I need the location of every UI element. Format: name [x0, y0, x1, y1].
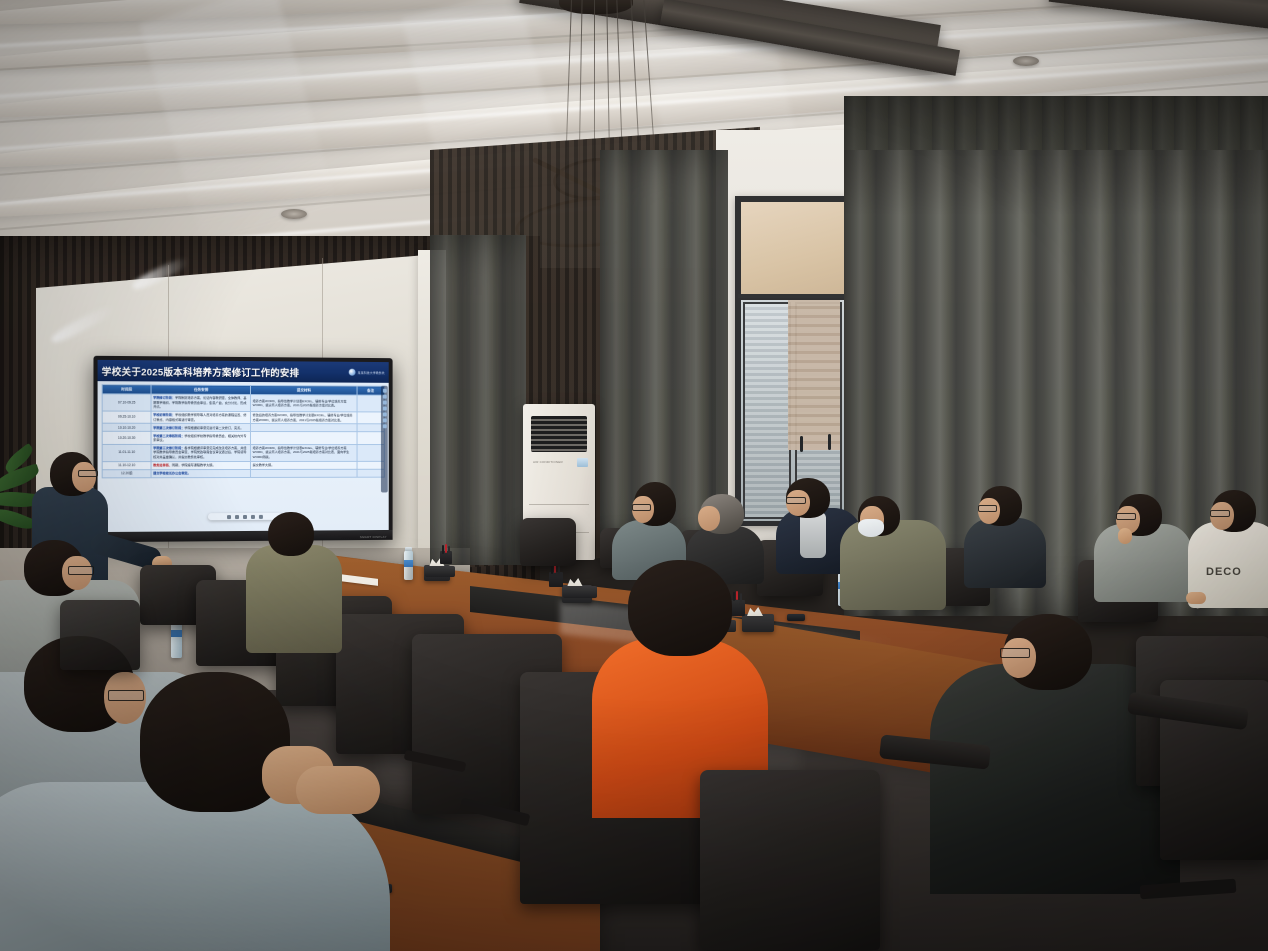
pen-holder[interactable]	[440, 551, 452, 564]
pen-holder[interactable]	[731, 600, 745, 616]
screen-bezel: 学校关于2025版本科培养方案修订工作的安排 某某科技大学教务处 时间段	[98, 360, 389, 532]
cell-materials	[251, 424, 357, 432]
task-text: 同期，学院编写课程教学大纲。	[172, 463, 216, 467]
dock-icon[interactable]	[382, 407, 386, 411]
task-highlight: 教务处审核、	[153, 463, 172, 467]
water-bottle[interactable]	[171, 620, 182, 658]
institution-logo: 某某科技大学教务处	[349, 369, 385, 376]
window-sash-left	[743, 302, 791, 519]
air-conditioner-vent	[531, 416, 587, 452]
col-header-time: 时间段	[102, 385, 151, 395]
chair[interactable]	[700, 770, 880, 950]
more-icon[interactable]	[259, 514, 263, 518]
cell-task: 学院修订阶段：学院制定培养方案、论证内容教研室、全体教师、基层教学组织、学院教学…	[151, 394, 251, 411]
slide-toolbar[interactable]	[208, 513, 282, 520]
task-highlight: 学校初审阶段：	[153, 413, 175, 417]
chair[interactable]	[60, 600, 140, 670]
dock-icon[interactable]	[382, 389, 386, 393]
microphone-unit[interactable]	[563, 586, 597, 598]
cell-materials: 培养方案WORD、指导性教学计划表EXCEL、辅修专业/学位培养方案WORD、拔…	[251, 395, 357, 412]
cell-task: 学院第二次修订阶段：学院根据初审意见进行第二次修订、完善。	[151, 424, 251, 432]
table-row: 09.25-10.10 学校初审阶段：学校组织教学督导等人员对培养方案的课程设置…	[102, 411, 384, 424]
eyeglasses	[786, 497, 806, 504]
cell-task: 教务处审核、同期，学院编写课程教学大纲。	[151, 461, 251, 469]
task-highlight: 学院第二次修订阶段：	[153, 425, 184, 429]
eyeglasses	[78, 470, 98, 477]
water-bottle[interactable]	[404, 550, 413, 580]
table-row: 12.20前 提交学校校长办公会审定。	[102, 469, 384, 478]
cell-materials: 培养方案WORD、指导性教学计划表EXCEL、辅修专业/学位培养方案WORD、拔…	[251, 444, 357, 461]
screen-brand-text: SMART DISPLAY	[360, 535, 387, 539]
cell-time: 11.10-12.10	[102, 461, 151, 469]
ceiling-downlight	[281, 209, 307, 219]
col-header-materials: 提交材料	[251, 386, 357, 396]
slide-title: 学校关于2025版本科培养方案修订工作的安排	[102, 363, 299, 378]
cell-task: 提交学校校长办公会审定。	[151, 469, 251, 477]
dock-icon[interactable]	[382, 418, 386, 422]
eyeglasses	[1116, 513, 1136, 520]
cell-task: 学校初审阶段：学校组织教学督导等人员对培养方案的课程设置、修订重点、内容格式等进…	[151, 411, 251, 424]
ceiling-downlight	[1013, 56, 1039, 66]
cell-time: 11.01-11.10	[102, 444, 151, 461]
col-header-task: 任务安排	[151, 385, 251, 395]
pointer-icon[interactable]	[243, 514, 247, 518]
task-highlight: 学校第二次审核阶段：	[153, 433, 184, 437]
window-transom	[741, 202, 844, 294]
logo-mark-icon	[349, 369, 356, 376]
table-row: 11.01-11.10 学院第三次修订阶段：各学院根据评审意见完成改善培养方案，…	[102, 444, 384, 461]
pen-icon[interactable]	[227, 515, 231, 519]
cell-materials: 修改后的培养方案WORD、指导性教学计划表EXCEL、辅修专业/学位培养方案WO…	[251, 412, 357, 425]
eyeglasses	[1210, 510, 1230, 517]
cell-task: 学院第三次修订阶段：各学院根据评审意见完成改善培养方案，并经学院教学指导委员会审…	[151, 444, 251, 461]
cell-time: 12.20前	[102, 469, 151, 477]
page-icon[interactable]	[251, 514, 255, 518]
task-text: 学院根据初审意见进行第二次修订、完善。	[184, 426, 243, 430]
screen-side-toolbar[interactable]	[381, 386, 388, 493]
dock-icon[interactable]	[382, 412, 386, 416]
air-conditioner-brand: AIR CONDITIONER	[533, 460, 563, 464]
chair[interactable]	[520, 518, 576, 566]
eyeglasses	[632, 504, 651, 511]
tissue-box[interactable]	[742, 614, 774, 632]
cell-time: 09.25-10.10	[102, 411, 151, 424]
face-mask	[858, 519, 884, 537]
slide-title-bar: 学校关于2025版本科培养方案修订工作的安排 某某科技大学教务处	[98, 360, 389, 383]
cell-materials	[251, 469, 357, 477]
table-row: 07.10-09.25 学院修订阶段：学院制定培养方案、论证内容教研室、全体教师…	[102, 394, 384, 412]
presentation-screen[interactable]: 学校关于2025版本科培养方案修订工作的安排 某某科技大学教务处 时间段	[93, 356, 392, 542]
hand	[1118, 528, 1132, 544]
dock-icon[interactable]	[382, 424, 386, 428]
task-highlight: 学院修订阶段：	[153, 396, 175, 400]
mobile-phone[interactable]	[787, 614, 805, 621]
hoodie-text: DECO	[1206, 566, 1242, 578]
dock-icon[interactable]	[382, 395, 386, 399]
eyeglasses	[108, 690, 144, 701]
table-row: 10.20-10.30 学校第二次审核阶段：学校组织学校教学指导委员会、相关校内…	[102, 432, 384, 445]
cell-time: 10.10-10.20	[102, 424, 151, 432]
curtain-left	[430, 235, 526, 565]
pen-holder[interactable]	[549, 572, 563, 587]
eyeglasses	[1000, 648, 1030, 658]
logo-text: 某某科技大学教务处	[358, 370, 385, 374]
slide-body: 时间段 任务安排 提交材料 备注 07.10-09.25 学院修订阶段：学院制定…	[98, 381, 389, 532]
cell-time: 07.10-09.25	[102, 394, 151, 411]
eraser-icon[interactable]	[235, 515, 239, 519]
exterior-building	[788, 300, 840, 450]
slide-content: 学校关于2025版本科培养方案修订工作的安排 某某科技大学教务处 时间段	[98, 360, 389, 532]
cell-materials	[251, 432, 357, 444]
shirt-collar	[800, 512, 826, 558]
clasped-hands	[296, 766, 380, 814]
cell-task: 学校第二次审核阶段：学校组织学校教学指导委员会、相关校内外专家审议。	[151, 432, 251, 444]
task-highlight: 提交学校校长办公会审定。	[153, 471, 190, 475]
dock-icon[interactable]	[382, 401, 386, 405]
cell-time: 10.20-10.30	[102, 432, 151, 445]
eyeglasses	[68, 566, 94, 575]
microphone-unit[interactable]	[425, 566, 455, 577]
eyeglasses	[978, 505, 997, 512]
schedule-table: 时间段 任务安排 提交材料 备注 07.10-09.25 学院修订阶段：学院制定…	[102, 384, 385, 478]
cell-materials: 提交教学大纲。	[251, 461, 357, 469]
conference-room-photo: AIR CONDITIONER 学校关于2025版本科培养方案修订工作的安排 某…	[0, 0, 1268, 951]
air-conditioner-badge	[577, 458, 588, 467]
hand	[1186, 592, 1206, 604]
